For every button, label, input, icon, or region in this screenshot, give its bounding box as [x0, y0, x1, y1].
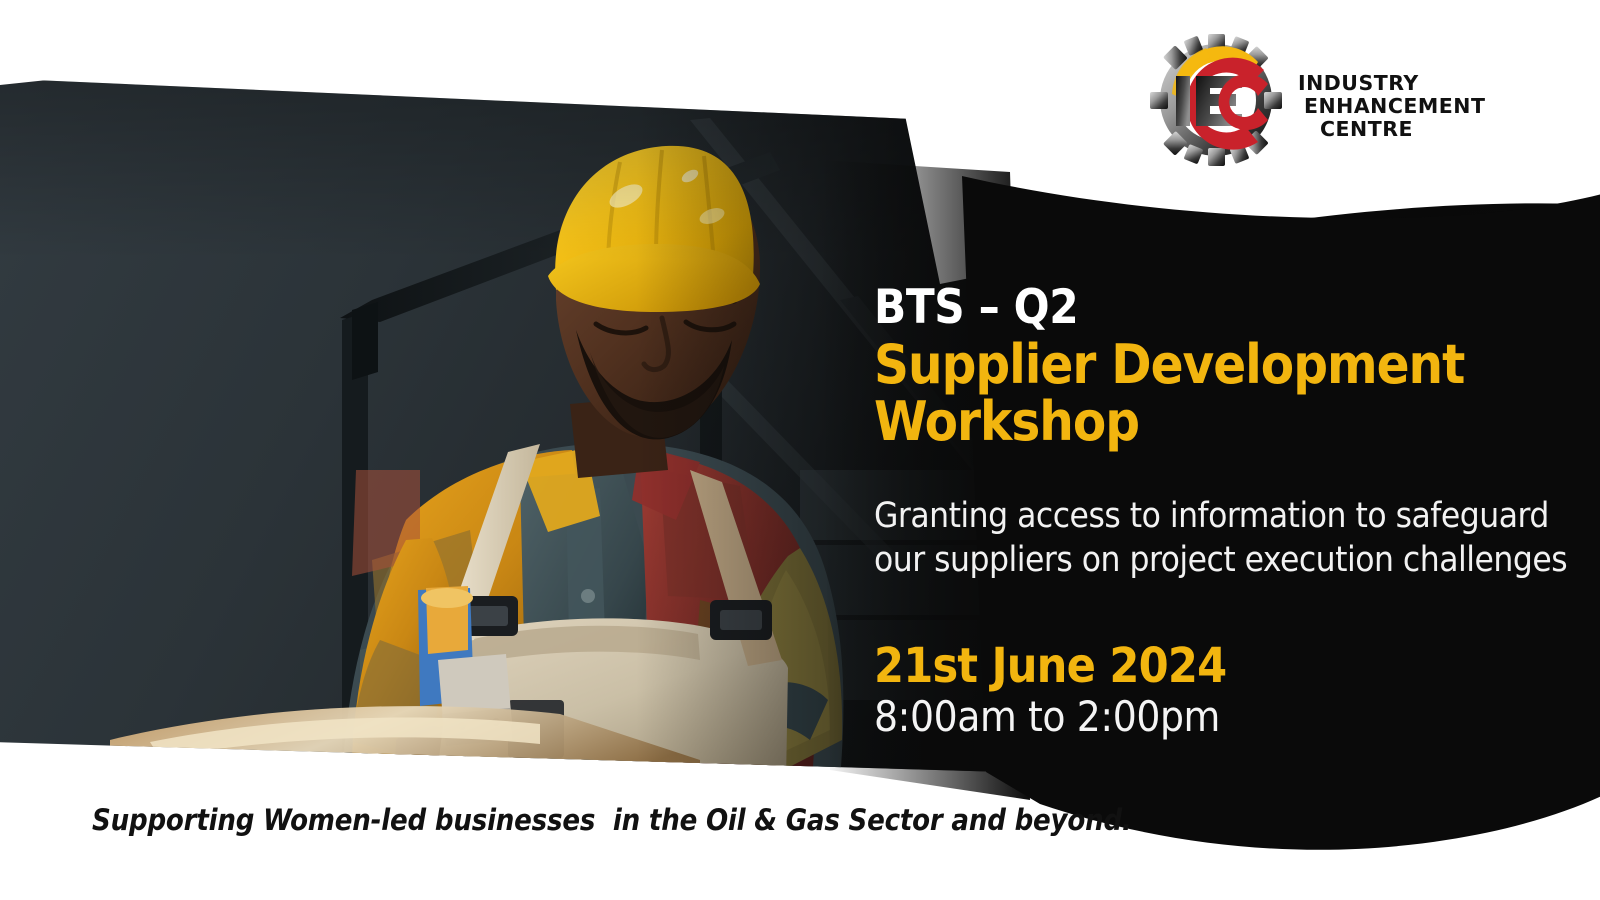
event-kicker: BTS – Q2: [874, 282, 1574, 334]
headline-line-2: Workshop: [874, 393, 1574, 450]
iec-logo: INDUSTRY ENHANCEMENT CENTRE: [1146, 22, 1526, 174]
logo-wordmark: INDUSTRY ENHANCEMENT CENTRE: [1298, 72, 1528, 141]
footer-tagline: Supporting Women-led businesses in the O…: [92, 803, 1132, 837]
description-line-1: Granting access to information to safegu…: [874, 494, 1574, 538]
logo-word-centre: CENTRE: [1298, 118, 1528, 141]
event-headline: Supplier Development Workshop: [874, 336, 1574, 450]
description-line-2: our suppliers on project execution chall…: [874, 538, 1574, 582]
event-time: 8:00am to 2:00pm: [874, 692, 1574, 742]
logo-word-industry: INDUSTRY: [1298, 72, 1528, 95]
logo-word-enhancement: ENHANCEMENT: [1298, 95, 1528, 118]
headline-line-1: Supplier Development: [874, 336, 1574, 393]
event-description: Granting access to information to safegu…: [874, 494, 1574, 582]
promotional-banner: INDUSTRY ENHANCEMENT CENTRE BTS – Q2 Sup…: [0, 0, 1600, 900]
event-copy-block: BTS – Q2 Supplier Development Workshop G…: [874, 282, 1574, 742]
event-date: 21st June 2024: [874, 640, 1574, 692]
iec-gear-icon: [1146, 22, 1296, 174]
